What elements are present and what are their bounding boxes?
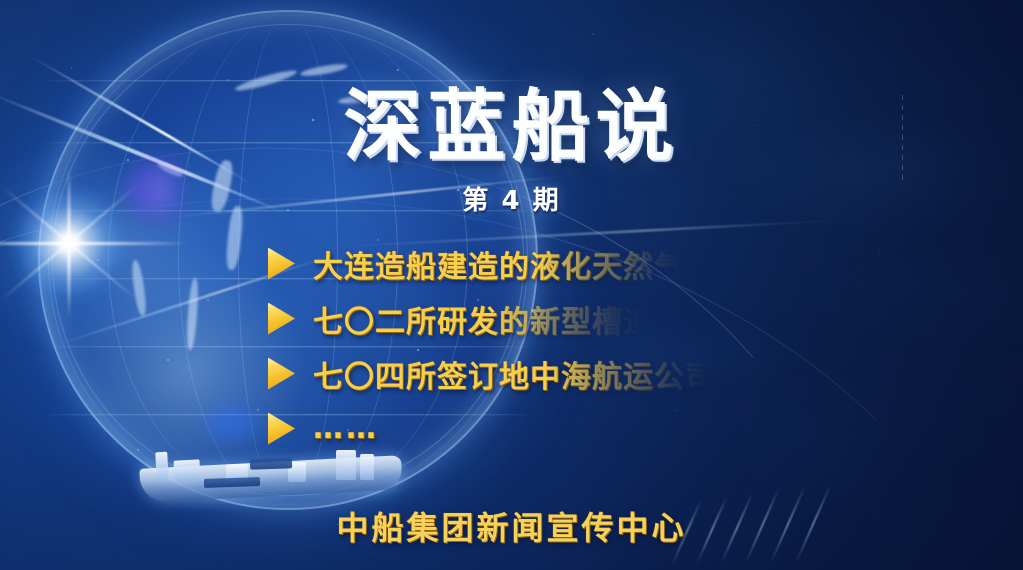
issue-number: 第 4 期 (0, 180, 1023, 217)
topic-list-item[interactable]: 七〇二所研发的新型槽道 (268, 291, 968, 346)
broadcast-title-card: 深蓝船说 第 4 期 大连造船建造的液化天然气 七〇二所研发的新型槽道 七〇四所 (0, 0, 1023, 570)
play-triangle-icon (268, 413, 295, 445)
topic-list-item[interactable]: …… (268, 401, 968, 456)
program-title: 深蓝船说 (0, 88, 1023, 166)
topic-label: …… (313, 411, 379, 446)
topic-label: 七〇二所研发的新型槽道 (313, 297, 654, 341)
topic-label: 大连造船建造的液化天然气 (313, 242, 685, 286)
title-card-content: 深蓝船说 第 4 期 大连造船建造的液化天然气 七〇二所研发的新型槽道 七〇四所 (0, 0, 1023, 570)
play-triangle-icon (268, 303, 295, 335)
topic-label: 七〇四所签订地中海航运公司 (313, 352, 716, 396)
topic-list-item[interactable]: 七〇四所签订地中海航运公司 (268, 346, 968, 401)
play-triangle-icon (268, 248, 295, 280)
topic-list-item[interactable]: 大连造船建造的液化天然气 (268, 236, 968, 291)
organization-credit: 中船集团新闻宣传中心 (0, 503, 1023, 549)
play-triangle-icon (268, 358, 295, 390)
topic-list: 大连造船建造的液化天然气 七〇二所研发的新型槽道 七〇四所签订地中海航运公司 …… (268, 236, 968, 456)
